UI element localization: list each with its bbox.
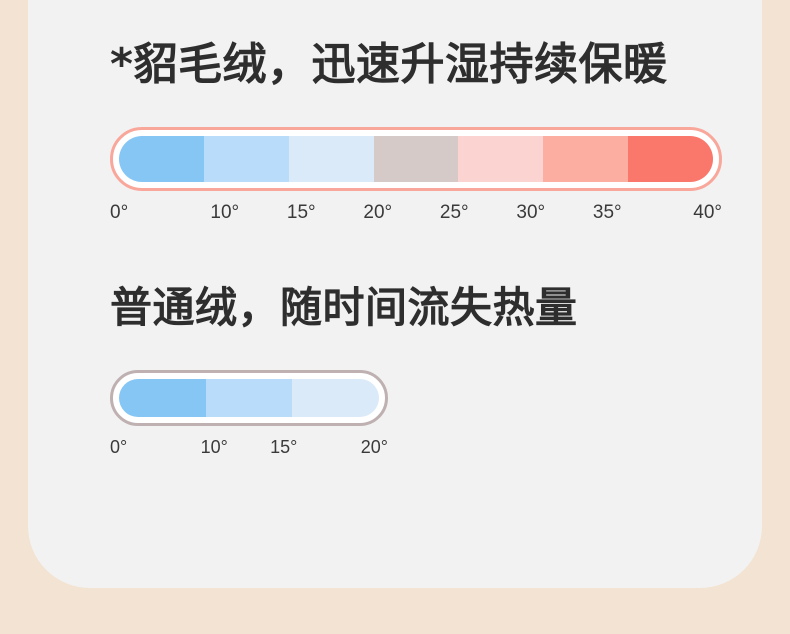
scale-1-ticks: 0° 10° 15° 20° 25° 30° 35° 40° xyxy=(110,202,722,224)
scale-1-tick-3: 20° xyxy=(340,202,417,224)
scale-1-tick-4: 25° xyxy=(416,202,493,224)
scale-2-tick-3: 20° xyxy=(319,437,389,458)
scale-2-tick-0: 0° xyxy=(110,437,180,458)
section-1-heading: *貂毛绒，迅速升湿持续保暖 xyxy=(110,38,668,92)
scale-2-segment-1 xyxy=(206,379,293,417)
scale-1-segment-0 xyxy=(119,136,204,182)
scale-1-track xyxy=(119,136,713,182)
scale-2-tick-2: 15° xyxy=(249,437,319,458)
page-root: *貂毛绒，迅速升湿持续保暖 0° 10° 15° 20° 25° xyxy=(0,0,790,634)
content-panel: *貂毛绒，迅速升湿持续保暖 0° 10° 15° 20° 25° xyxy=(28,0,762,588)
temperature-scale-standard: 0° 10° 15° 20° xyxy=(110,370,388,458)
scale-1-tick-0: 0° xyxy=(110,202,187,224)
temperature-scale-premium: 0° 10° 15° 20° 25° 30° 35° 40° xyxy=(110,127,722,224)
scale-2-ticks: 0° 10° 15° 20° xyxy=(110,437,388,458)
scale-1-tick-6: 35° xyxy=(569,202,646,224)
scale-1-ring xyxy=(110,127,722,191)
scale-1-segment-4 xyxy=(458,136,543,182)
scale-2-segment-2 xyxy=(292,379,379,417)
scale-1-segment-1 xyxy=(204,136,289,182)
scale-2-track xyxy=(119,379,379,417)
scale-1-tick-5: 30° xyxy=(493,202,570,224)
scale-2-segment-0 xyxy=(119,379,206,417)
scale-1-tick-1: 10° xyxy=(187,202,264,224)
scale-1-segment-5 xyxy=(543,136,628,182)
scale-2-tick-1: 10° xyxy=(180,437,250,458)
scale-1-segment-2 xyxy=(289,136,374,182)
scale-2-ring xyxy=(110,370,388,426)
scale-1-segment-3 xyxy=(374,136,459,182)
scale-1-tick-7: 40° xyxy=(646,202,723,224)
scale-1-tick-2: 15° xyxy=(263,202,340,224)
scale-1-segment-6 xyxy=(628,136,713,182)
section-2-heading: 普通绒，随时间流失热量 xyxy=(110,282,578,334)
